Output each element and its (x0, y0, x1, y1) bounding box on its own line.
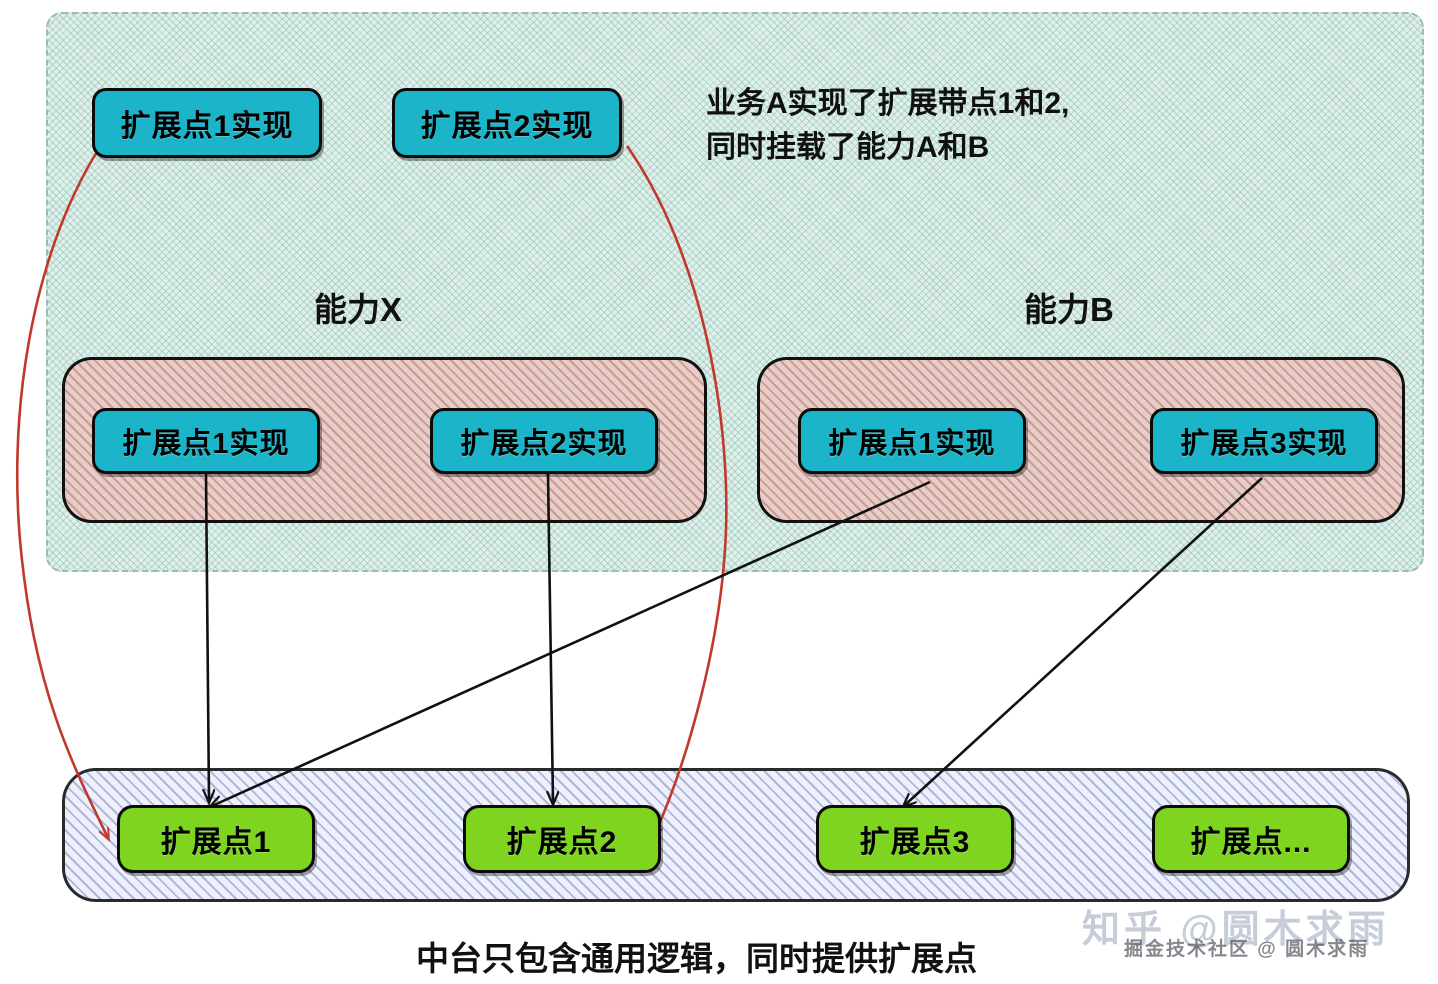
capability-b-impl-3[interactable]: 扩展点3实现 (1150, 408, 1378, 474)
edge-red-impl2-to-ep2 (627, 146, 726, 836)
capability-x-impl-1[interactable]: 扩展点1实现 (92, 408, 320, 474)
capability-x-title: 能力X (314, 283, 402, 331)
edge-capb-impl1-to-ep1 (212, 482, 930, 806)
edge-capb-impl3-to-ep3 (905, 478, 1262, 805)
extension-point-1[interactable]: 扩展点1 (117, 805, 315, 873)
capability-b-title: 能力B (1024, 283, 1114, 331)
capability-b-impl-1[interactable]: 扩展点1实现 (798, 408, 1026, 474)
edge-capx-impl1-to-ep1 (206, 474, 209, 800)
platform-caption: 中台只包含通用逻辑，同时提供扩展点 (416, 932, 977, 980)
edge-red-impl1-to-ep1 (17, 150, 108, 838)
business-impl-2[interactable]: 扩展点2实现 (392, 88, 622, 158)
extension-point-2[interactable]: 扩展点2 (463, 805, 661, 873)
capability-x-impl-2[interactable]: 扩展点2实现 (430, 408, 658, 474)
business-impl-1[interactable]: 扩展点1实现 (92, 88, 322, 158)
diagram-canvas: 扩展点1实现 扩展点2实现 业务A实现了扩展带点1和2, 同时挂载了能力A和B … (0, 0, 1438, 984)
edge-capx-impl2-to-ep2 (548, 474, 553, 802)
extension-point-3[interactable]: 扩展点3 (816, 805, 1014, 873)
business-annotation: 业务A实现了扩展带点1和2, 同时挂载了能力A和B (706, 82, 1069, 169)
extension-point-more[interactable]: 扩展点... (1152, 805, 1350, 873)
